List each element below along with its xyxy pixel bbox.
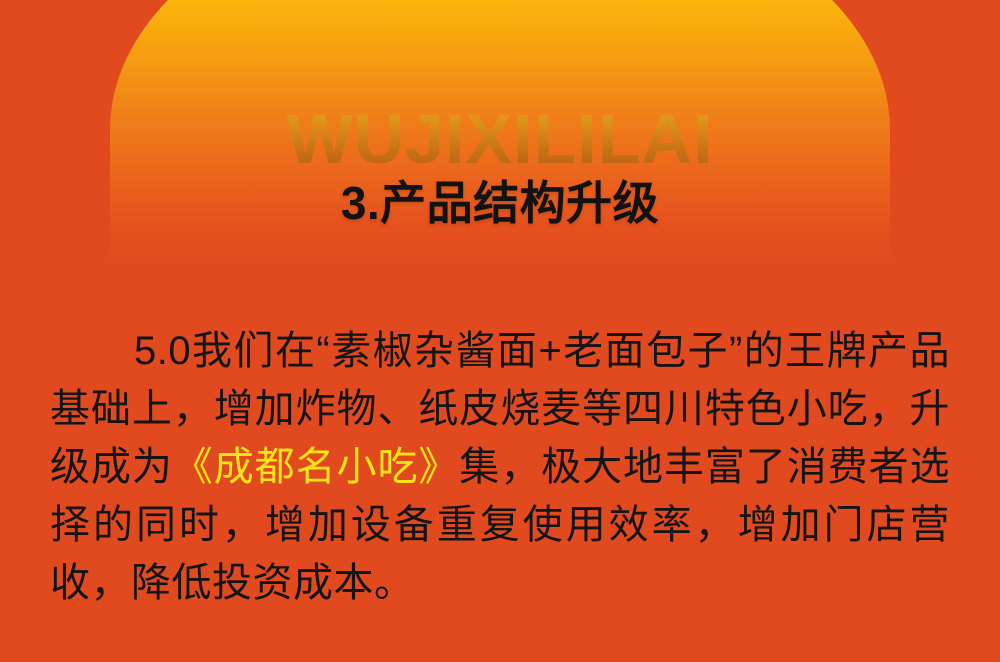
slide-title: 3.产品结构升级 (0, 178, 1000, 230)
body-segment-highlight: 《成都名小吃》 (173, 445, 460, 489)
slide-canvas: WUJIXILILAI 3.产品结构升级 5.0我们在“素椒杂酱面+老面包子”的… (0, 0, 1000, 662)
body-paragraph: 5.0我们在“素椒杂酱面+老面包子”的王牌产品基础上，增加炸物、纸皮烧麦等四川特… (50, 322, 950, 612)
watermark-pinyin-text: WUJIXILILAI (0, 104, 1000, 174)
